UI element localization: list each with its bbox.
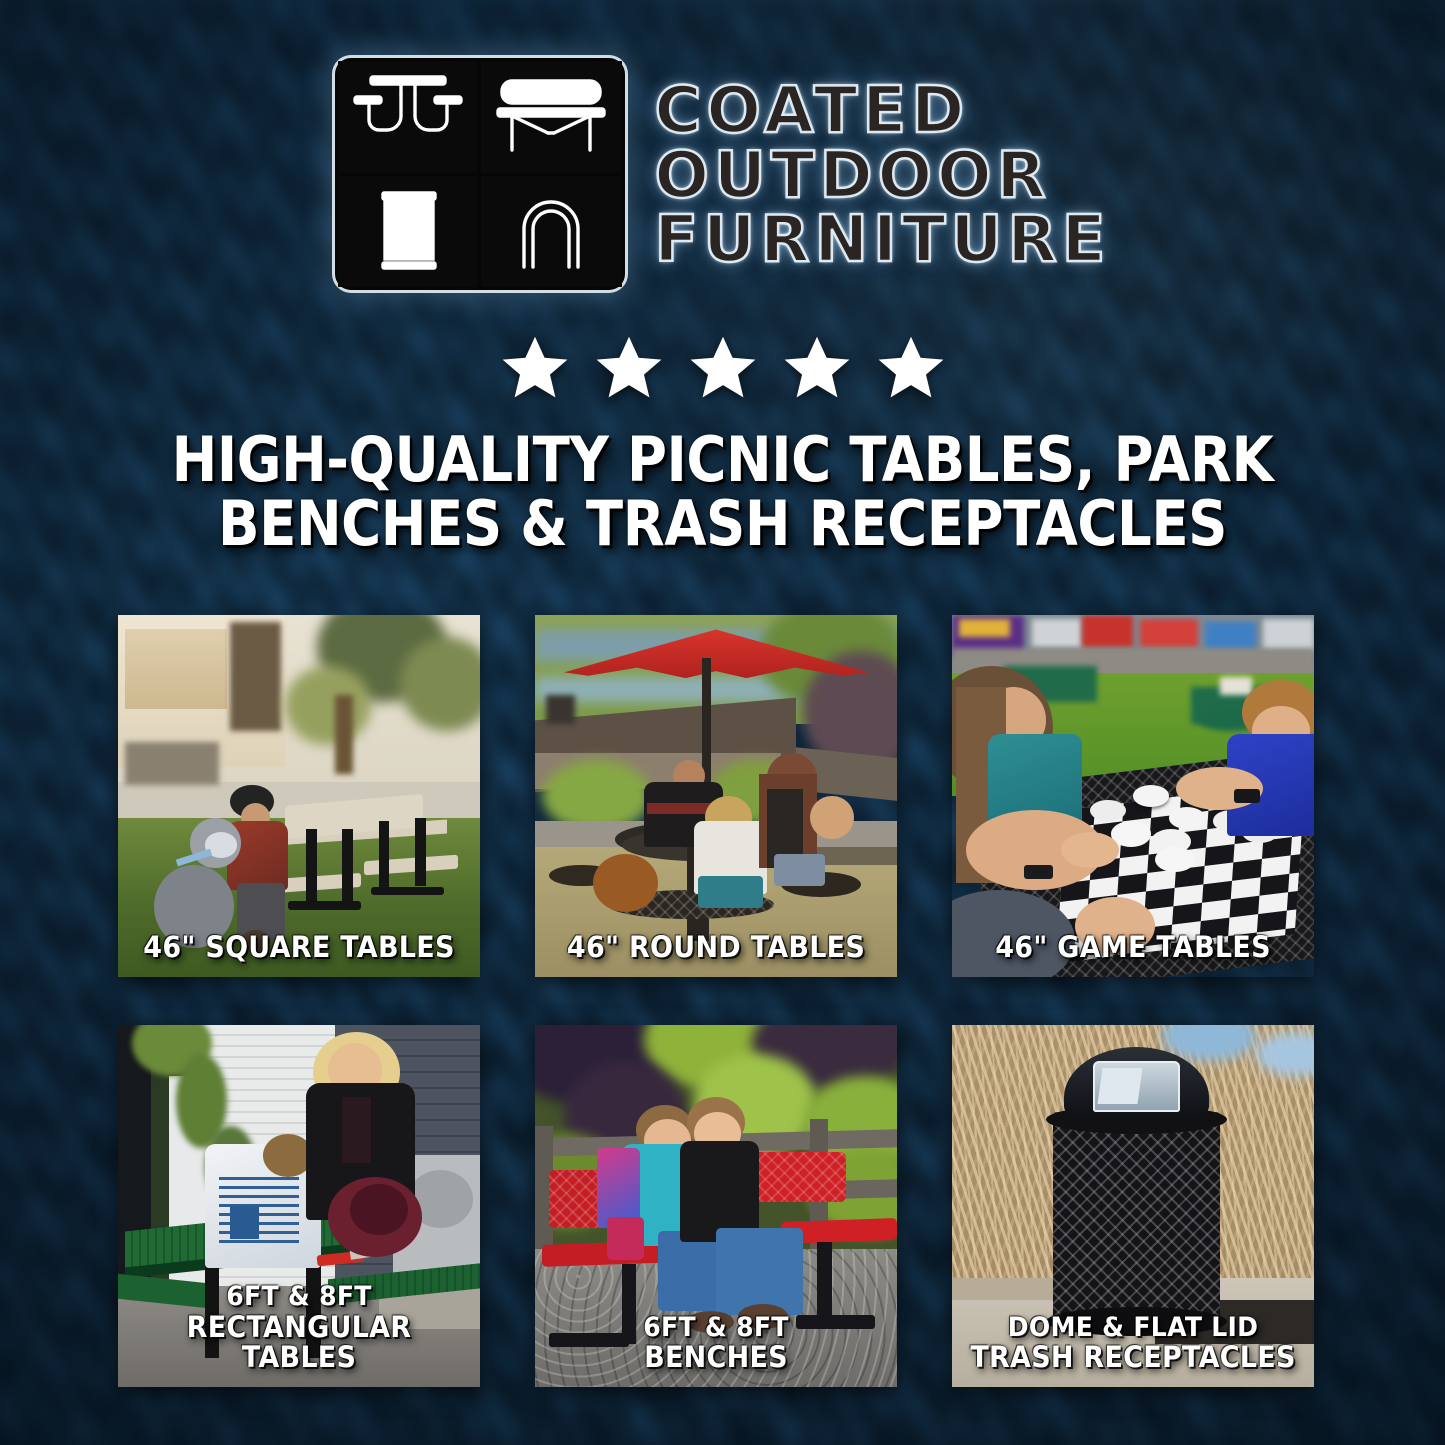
headline-line-1: HIGH-QUALITY PICNIC TABLES, PARK [172,423,1274,496]
product-card[interactable]: 46" GAME TABLES [952,615,1314,977]
logo-line-1: COATED [655,80,1111,143]
product-caption: DOME & FLAT LID TRASH RECEPTACLES [970,1314,1296,1373]
star-icon [781,332,853,404]
product-photo-round-tables [535,615,897,977]
logo-line-2: OUTDOOR [655,145,1111,208]
caption-line-2: TRASH RECEPTACLES [970,1342,1296,1373]
product-photo-game-tables [952,615,1314,977]
star-icon [499,332,571,404]
round-picnic-table-icon [338,61,479,173]
park-bench-icon [481,61,622,173]
product-caption: 46" SQUARE TABLES [136,932,462,963]
star-icon [875,332,947,404]
star-icon [687,332,759,404]
headline-line-2: BENCHES & TRASH RECEPTACLES [140,492,1306,556]
caption-line-1: 46" SQUARE TABLES [136,932,462,963]
caption-line-2: RECTANGULAR TABLES [136,1312,462,1373]
five-star-rating [0,332,1445,404]
product-caption: 6FT & 8FT BENCHES [553,1314,879,1373]
star-icon [593,332,665,404]
product-grid: 46" SQUARE TABLES [118,615,1326,1387]
caption-line-1: DOME & FLAT LID [970,1314,1296,1343]
page-title: HIGH-QUALITY PICNIC TABLES, PARK BENCHES… [140,428,1306,556]
caption-line-1: 6FT & 8FT [553,1314,879,1343]
product-caption: 46" GAME TABLES [970,932,1296,963]
brand-logo: COATED OUTDOOR FURNITURE [0,58,1445,290]
logo-icon-grid [335,58,625,290]
logo-line-3: FURNITURE [655,209,1111,272]
product-photo-square-tables [118,615,480,977]
caption-line-1: 46" ROUND TABLES [553,932,879,963]
product-card[interactable]: 6FT & 8FT BENCHES [535,1025,897,1387]
product-caption: 6FT & 8FT RECTANGULAR TABLES [136,1283,462,1373]
product-caption: 46" ROUND TABLES [553,932,879,963]
flat-lid-trash-receptacle-icon [338,176,479,288]
caption-line-1: 6FT & 8FT [136,1283,462,1312]
caption-line-1: 46" GAME TABLES [970,932,1296,963]
caption-line-2: BENCHES [553,1342,879,1373]
logo-wordmark: COATED OUTDOOR FURNITURE [655,76,1111,272]
product-card[interactable]: 6FT & 8FT RECTANGULAR TABLES [118,1025,480,1387]
product-card[interactable]: 46" SQUARE TABLES [118,615,480,977]
dome-lid-trash-receptacle-icon [481,176,622,288]
promo-poster: COATED OUTDOOR FURNITURE HIGH-QUALITY PI… [0,0,1445,1445]
product-card[interactable]: 46" ROUND TABLES [535,615,897,977]
product-card[interactable]: DOME & FLAT LID TRASH RECEPTACLES [952,1025,1314,1387]
